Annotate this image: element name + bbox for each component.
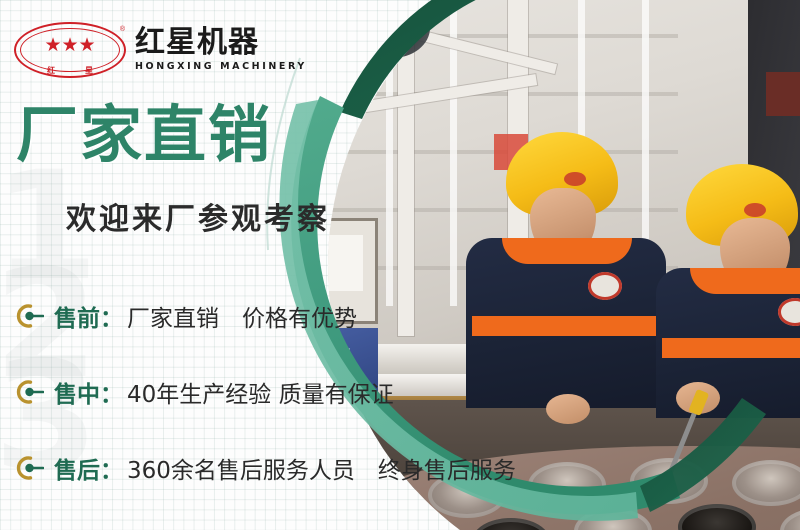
logo-company-cn: 红星机器: [135, 28, 307, 59]
bullet-text-presale: 厂家直销 价格有优势: [127, 299, 357, 333]
bullet-row-aftersale: 售后： 360余名售后服务人员 终身售后服务: [14, 448, 516, 488]
logo-company-en: HONGXING MACHINERY: [135, 61, 307, 72]
target-dot-icon: [14, 303, 44, 329]
bullet-row-presale: 售前： 厂家直销 价格有优势: [14, 296, 516, 336]
logo-stars: ★★★: [44, 36, 95, 55]
trademark-symbol: ®: [120, 26, 125, 33]
logo-wordmark: 红星机器 HONGXING MACHINERY: [135, 28, 307, 72]
headline-title: 厂家直销: [16, 104, 272, 166]
bullet-text-duringsale: 40年生产经验 质量有保证: [127, 375, 394, 409]
logo-emblem: ★★★ ® 红 星: [14, 22, 126, 78]
headline-subtitle: 欢迎来厂参观考察: [66, 205, 330, 235]
logo-oval-right-char: 星: [85, 67, 93, 75]
logo-oval-left-char: 红: [47, 67, 55, 75]
bullet-label-duringsale: 售中：: [54, 375, 123, 409]
bullet-label-aftersale: 售后：: [54, 451, 123, 485]
target-dot-icon: [14, 455, 44, 481]
service-bullet-list: 售前： 厂家直销 价格有优势 售中： 40年生产经验 质量有保证: [14, 296, 516, 524]
company-logo[interactable]: ★★★ ® 红 星 红星机器 HONGXING MACHINERY: [14, 22, 307, 78]
bullet-label-presale: 售前：: [54, 299, 123, 333]
promo-banner: 1 2 3: [0, 0, 800, 530]
bullet-row-duringsale: 售中： 40年生产经验 质量有保证: [14, 372, 516, 412]
target-dot-icon: [14, 379, 44, 405]
bullet-text-aftersale: 360余名售后服务人员 终身售后服务: [127, 451, 516, 485]
